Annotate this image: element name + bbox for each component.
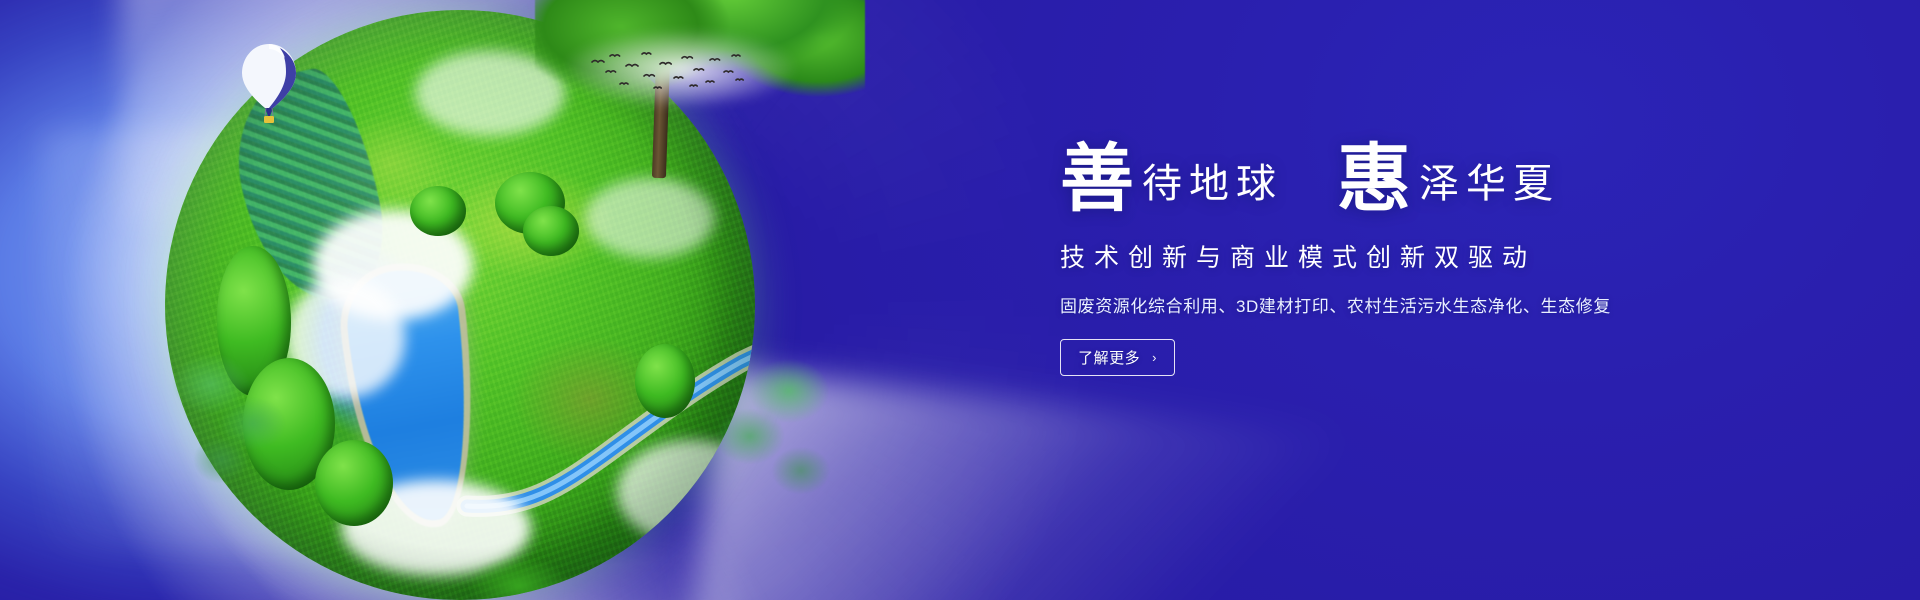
learn-more-button[interactable]: 了解更多 › xyxy=(1060,339,1175,376)
headline-phrase2-rest: 泽华夏 xyxy=(1411,164,1560,204)
banner-subtitle: 技术创新与商业模式创新双驱动 xyxy=(1060,238,1760,274)
headline: 善 待地球 惠 泽华夏 xyxy=(1060,138,1760,212)
hot-air-balloon-icon xyxy=(236,42,302,134)
flock-of-birds-icon xyxy=(586,48,746,94)
headline-phrase1-rest: 待地球 xyxy=(1134,164,1283,204)
headline-phrase2-lead: 惠 xyxy=(1337,142,1411,216)
banner-content: 善 待地球 惠 泽华夏 技术创新与商业模式创新双驱动 固废资源化综合利用、3D建… xyxy=(1060,138,1760,376)
chevron-right-icon: › xyxy=(1152,350,1157,365)
banner-description: 固废资源化综合利用、3D建材打印、农村生活污水生态净化、生态修复 xyxy=(1060,292,1760,317)
side-tree-left xyxy=(172,330,302,510)
side-tree-right xyxy=(690,330,840,520)
headline-phrase1-lead: 善 xyxy=(1060,142,1134,216)
hero-banner: 善 待地球 惠 泽华夏 技术创新与商业模式创新双驱动 固废资源化综合利用、3D建… xyxy=(0,0,1920,600)
learn-more-label: 了解更多 xyxy=(1078,347,1140,368)
